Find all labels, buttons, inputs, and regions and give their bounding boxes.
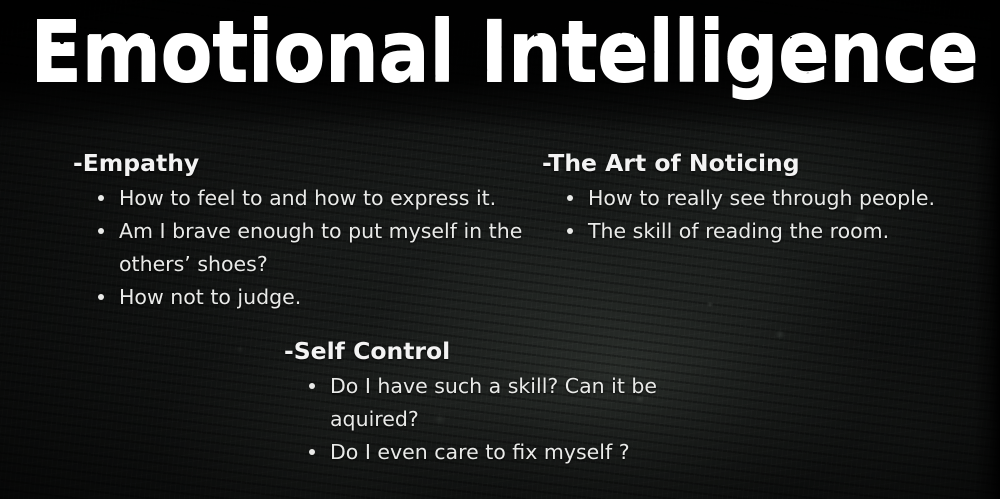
list-item: Do I have such a skill? Can it be aquire…	[303, 370, 714, 436]
bullet-dot-icon	[98, 294, 104, 300]
bullet-list-the-art-of-noticing: How to really see through people. The sk…	[561, 182, 972, 248]
bullet-list-self-control: Do I have such a skill? Can it be aquire…	[303, 370, 714, 469]
slide-title: Emotional Intelligence Emotional Intelli…	[30, 8, 978, 100]
list-item-text: Do I even care to fix myself ?	[330, 440, 630, 464]
section-heading-self-control: -Self Control	[284, 338, 714, 365]
section-empathy: -Empathy How to feel to and how to expre…	[73, 150, 543, 314]
slide-title-text: Emotional Intelligence	[30, 8, 978, 100]
bullet-list-empathy: How to feel to and how to express it. Am…	[92, 182, 543, 314]
list-item-text: How to really see through people.	[588, 186, 935, 210]
bullet-dot-icon	[309, 449, 315, 455]
list-item: How not to judge.	[92, 281, 543, 314]
list-item: Do I even care to fix myself ?	[303, 436, 714, 469]
list-item-text: The skill of reading the room.	[588, 219, 889, 243]
list-item: The skill of reading the room.	[561, 215, 972, 248]
section-self-control: -Self Control Do I have such a skill? Ca…	[284, 338, 714, 469]
bullet-dot-icon	[567, 228, 573, 234]
slide-canvas: Emotional Intelligence Emotional Intelli…	[0, 0, 1000, 499]
list-item-text: How not to judge.	[119, 285, 301, 309]
list-item-text: Am I brave enough to put myself in the o…	[119, 219, 522, 276]
section-heading-empathy: -Empathy	[73, 150, 543, 177]
list-item: How to feel to and how to express it.	[92, 182, 543, 215]
bullet-dot-icon	[309, 383, 315, 389]
section-heading-the-art-of-noticing: -The Art of Noticing	[542, 150, 972, 177]
list-item-text: Do I have such a skill? Can it be aquire…	[330, 374, 657, 431]
list-item-text: How to feel to and how to express it.	[119, 186, 496, 210]
bullet-dot-icon	[98, 228, 104, 234]
section-the-art-of-noticing: -The Art of Noticing How to really see t…	[542, 150, 972, 248]
list-item: Am I brave enough to put myself in the o…	[92, 215, 543, 281]
bullet-dot-icon	[567, 195, 573, 201]
bullet-dot-icon	[98, 195, 104, 201]
list-item: How to really see through people.	[561, 182, 972, 215]
